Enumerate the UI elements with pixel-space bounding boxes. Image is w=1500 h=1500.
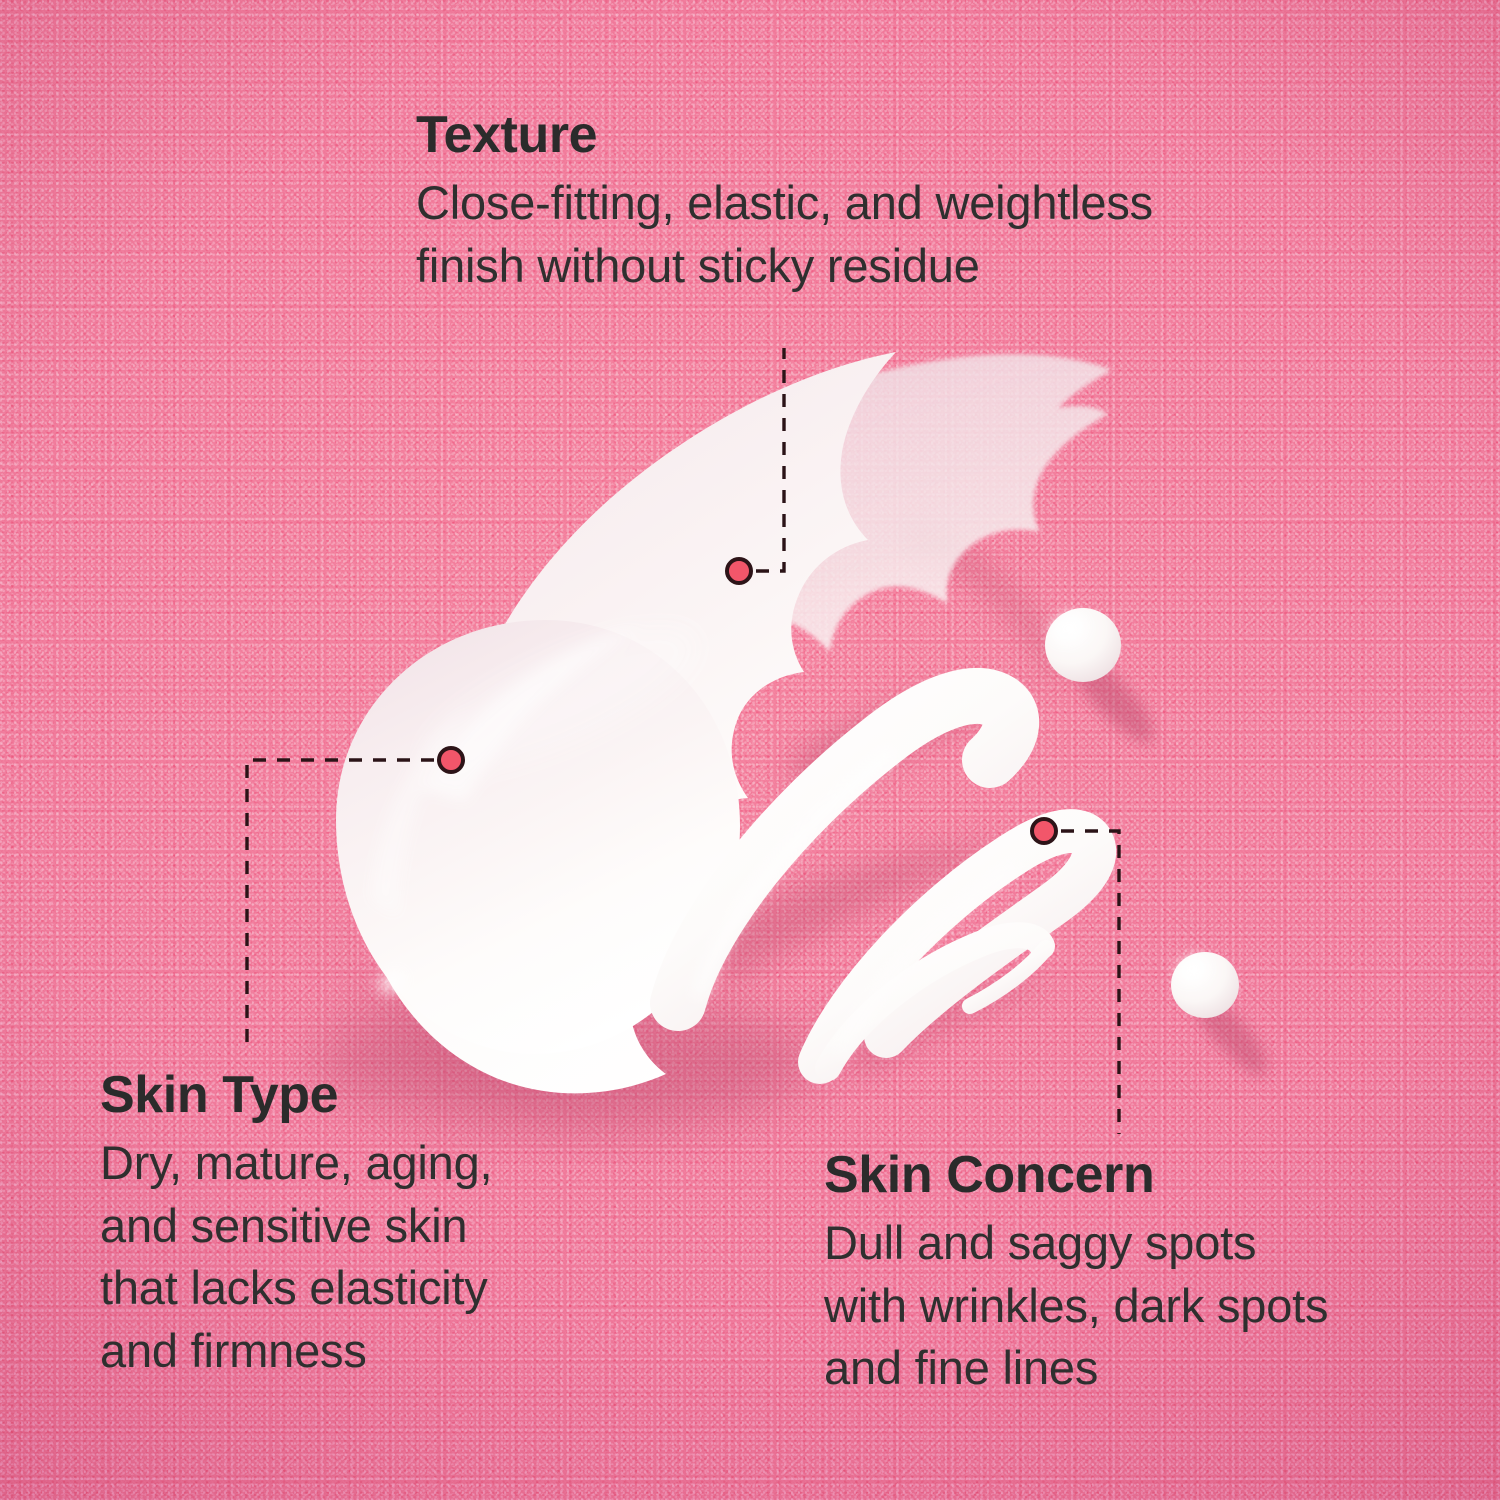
callout-skin-concern-body-line: with wrinkles, dark spots: [824, 1275, 1464, 1338]
callout-skin-type-body-line: Dry, mature, aging,: [100, 1132, 620, 1195]
callout-marker-skin-type: [439, 748, 463, 772]
callout-skin-type-body: Dry, mature, aging, and sensitive skin t…: [100, 1132, 620, 1382]
callout-skin-concern-body-line: Dull and saggy spots: [824, 1212, 1464, 1275]
callout-marker-skin-concern: [1032, 819, 1056, 843]
callout-skin-concern-title: Skin Concern: [824, 1148, 1464, 1202]
callout-skin-type-body-line: that lacks elasticity: [100, 1257, 620, 1320]
callout-texture-title: Texture: [416, 108, 1336, 162]
callout-texture-body-line: finish without sticky residue: [416, 235, 1336, 298]
callout-texture-body: Close-fitting, elastic, and weightless f…: [416, 172, 1336, 297]
leader-line-texture: [756, 348, 784, 571]
callout-skin-type-body-line: and firmness: [100, 1320, 620, 1383]
leader-line-skin-concern: [1061, 831, 1119, 1134]
callout-skin-type: Skin Type Dry, mature, aging, and sensit…: [100, 1068, 620, 1382]
callout-texture: Texture Close-fitting, elastic, and weig…: [416, 108, 1336, 297]
product-infographic: Texture Close-fitting, elastic, and weig…: [0, 0, 1500, 1500]
callout-skin-type-body-line: and sensitive skin: [100, 1195, 620, 1258]
callout-skin-concern-body: Dull and saggy spots with wrinkles, dark…: [824, 1212, 1464, 1400]
callout-texture-body-line: Close-fitting, elastic, and weightless: [416, 172, 1336, 235]
callout-marker-texture: [727, 559, 751, 583]
callout-skin-concern: Skin Concern Dull and saggy spots with w…: [824, 1148, 1464, 1400]
leader-line-skin-type: [247, 760, 434, 1044]
callout-skin-type-title: Skin Type: [100, 1068, 620, 1122]
callout-skin-concern-body-line: and fine lines: [824, 1337, 1464, 1400]
